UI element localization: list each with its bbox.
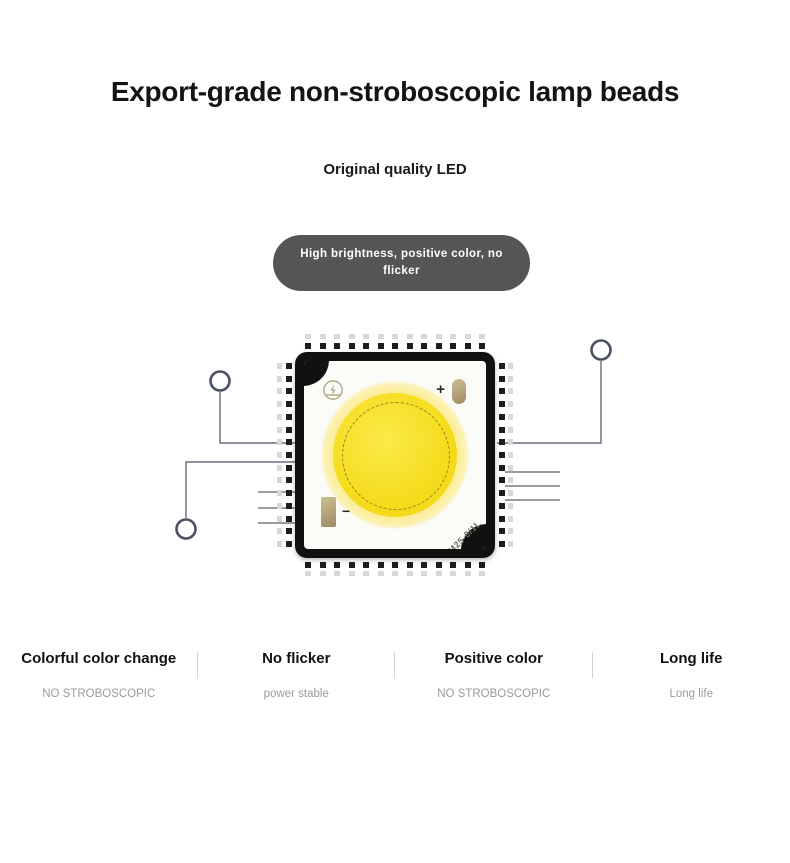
- chip-pad-top: [392, 343, 398, 349]
- chip-pad-top-shadow: [465, 334, 471, 339]
- chip-pad-left: [286, 363, 292, 369]
- chip-pad-bottom: [305, 562, 311, 568]
- chip-pad-left: [286, 490, 292, 496]
- chip-pad-top-shadow: [407, 334, 413, 339]
- chip-pad-bottom-shadow: [363, 571, 369, 576]
- led-chip-image: + − M25-0/1L: [262, 326, 528, 588]
- feature-subtitle: NO STROBOSCOPIC: [395, 688, 593, 700]
- chip-pad-left-shadow: [277, 452, 282, 458]
- chip-pad-right-shadow: [508, 452, 513, 458]
- chip-pad-right-shadow: [508, 439, 513, 445]
- chip-pad-top: [320, 343, 326, 349]
- page-subtitle: Original quality LED: [0, 161, 790, 178]
- chip-pad-bottom: [320, 562, 326, 568]
- chip-pad-right-shadow: [508, 541, 513, 547]
- chip-pad-top: [305, 343, 311, 349]
- chip-pad-left-shadow: [277, 388, 282, 394]
- chip-pad-top-shadow: [320, 334, 326, 339]
- chip-pad-left-shadow: [277, 465, 282, 471]
- chip-pad-left-shadow: [277, 363, 282, 369]
- chip-pad-right: [499, 452, 505, 458]
- chip-pad-bottom-shadow: [378, 571, 384, 576]
- chip-pad-top-shadow: [349, 334, 355, 339]
- feature-subtitle: Long life: [593, 688, 790, 700]
- chip-pad-right-shadow: [508, 414, 513, 420]
- chip-pad-right-shadow: [508, 363, 513, 369]
- phosphor-dashed-ring: [342, 402, 450, 510]
- chip-pad-left-shadow: [277, 414, 282, 420]
- chip-pad-right: [499, 516, 505, 522]
- feature-item: Colorful color change NO STROBOSCOPIC: [0, 650, 198, 700]
- anode-terminal: [452, 379, 466, 404]
- chip-pad-bottom-shadow: [421, 571, 427, 576]
- chip-pad-right-shadow: [508, 388, 513, 394]
- chip-pad-bottom-shadow: [465, 571, 471, 576]
- chip-pad-top-shadow: [450, 334, 456, 339]
- chip-pad-top: [479, 343, 485, 349]
- chip-pad-top: [465, 343, 471, 349]
- chip-pad-bottom-shadow: [349, 571, 355, 576]
- chip-pad-left: [286, 528, 292, 534]
- chip-pad-right-shadow: [508, 528, 513, 534]
- chip-pad-bottom-shadow: [436, 571, 442, 576]
- chip-pad-bottom: [392, 562, 398, 568]
- chip-pad-left-shadow: [277, 541, 282, 547]
- chip-pad-left-shadow: [277, 376, 282, 382]
- chip-pad-top: [436, 343, 442, 349]
- feature-title: No flicker: [198, 650, 396, 667]
- chip-pad-right-shadow: [508, 427, 513, 433]
- callout-dot-left-bottom[interactable]: [177, 520, 196, 539]
- chip-pad-right: [499, 503, 505, 509]
- chip-pad-right: [499, 401, 505, 407]
- chip-pad-left: [286, 503, 292, 509]
- chip-pad-top-shadow: [392, 334, 398, 339]
- chip-pad-bottom: [465, 562, 471, 568]
- chip-pad-top: [378, 343, 384, 349]
- chip-pad-bottom-shadow: [320, 571, 326, 576]
- chip-pad-right-shadow: [508, 376, 513, 382]
- chip-pad-right-shadow: [508, 490, 513, 496]
- chip-pad-bottom-shadow: [334, 571, 340, 576]
- chip-pad-right: [499, 427, 505, 433]
- chip-pad-left: [286, 541, 292, 547]
- chip-pad-left: [286, 439, 292, 445]
- feature-item: Long life Long life: [593, 650, 790, 700]
- chip-pad-bottom: [407, 562, 413, 568]
- feature-subtitle: power stable: [198, 688, 396, 700]
- chip-pad-top-shadow: [421, 334, 427, 339]
- chip-pad-bottom: [450, 562, 456, 568]
- callout-dot-left-top[interactable]: [211, 372, 230, 391]
- chip-pad-right-shadow: [508, 477, 513, 483]
- chip-pad-right-shadow: [508, 465, 513, 471]
- chip-substrate: + − M25-0/1L: [304, 361, 486, 549]
- anode-plus-sign: +: [436, 382, 445, 397]
- cathode-minus-sign: −: [342, 504, 350, 518]
- chip-pad-bottom-shadow: [479, 571, 485, 576]
- chip-pad-left-shadow: [277, 427, 282, 433]
- chip-pad-left: [286, 414, 292, 420]
- chip-pad-right-shadow: [508, 503, 513, 509]
- chip-pad-top-shadow: [334, 334, 340, 339]
- chip-pad-right: [499, 414, 505, 420]
- chip-pad-right-shadow: [508, 401, 513, 407]
- chip-pad-left: [286, 516, 292, 522]
- chip-pad-top: [334, 343, 340, 349]
- chip-pad-left: [286, 427, 292, 433]
- chip-pad-right: [499, 541, 505, 547]
- chip-pad-left: [286, 376, 292, 382]
- chip-pad-top-shadow: [363, 334, 369, 339]
- feature-title: Long life: [593, 650, 790, 667]
- chip-pad-bottom: [363, 562, 369, 568]
- feature-title: Positive color: [395, 650, 593, 667]
- feature-strip: Colorful color change NO STROBOSCOPIC No…: [0, 650, 790, 700]
- chip-pad-bottom-shadow: [392, 571, 398, 576]
- chip-pad-bottom-shadow: [450, 571, 456, 576]
- chip-pad-top: [421, 343, 427, 349]
- chip-pad-left-shadow: [277, 477, 282, 483]
- chip-pad-bottom-shadow: [407, 571, 413, 576]
- callout-dot-right-top[interactable]: [592, 341, 611, 360]
- chip-pad-right: [499, 439, 505, 445]
- chip-pad-bottom: [479, 562, 485, 568]
- chip-pad-bottom: [421, 562, 427, 568]
- chip-pad-top-shadow: [305, 334, 311, 339]
- chip-pad-bottom-shadow: [305, 571, 311, 576]
- chip-pad-right: [499, 465, 505, 471]
- chip-pad-top: [450, 343, 456, 349]
- feature-subtitle: NO STROBOSCOPIC: [0, 688, 198, 700]
- chip-pad-bottom: [436, 562, 442, 568]
- feature-title: Colorful color change: [0, 650, 198, 667]
- highlight-badge-label: High brightness, positive color, no flic…: [295, 246, 508, 279]
- chip-body: + − M25-0/1L: [295, 352, 495, 558]
- chip-pad-right: [499, 363, 505, 369]
- chip-pad-left: [286, 465, 292, 471]
- chip-pad-left-shadow: [277, 503, 282, 509]
- chip-pad-bottom: [349, 562, 355, 568]
- page-title: Export-grade non-stroboscopic lamp beads: [0, 76, 790, 108]
- chip-pad-bottom: [334, 562, 340, 568]
- chip-pad-left: [286, 477, 292, 483]
- chip-pad-right: [499, 477, 505, 483]
- highlight-badge: High brightness, positive color, no flic…: [273, 235, 530, 291]
- chip-pad-right: [499, 388, 505, 394]
- chip-pad-top-shadow: [479, 334, 485, 339]
- esd-warning-icon: [322, 379, 344, 401]
- feature-item: No flicker power stable: [198, 650, 396, 700]
- chip-pad-left-shadow: [277, 516, 282, 522]
- chip-pad-right-shadow: [508, 516, 513, 522]
- chip-pad-top: [407, 343, 413, 349]
- chip-pad-right: [499, 490, 505, 496]
- chip-pad-left-shadow: [277, 490, 282, 496]
- chip-pad-left-shadow: [277, 528, 282, 534]
- chip-pad-top-shadow: [378, 334, 384, 339]
- chip-pad-top: [363, 343, 369, 349]
- chip-pad-right: [499, 376, 505, 382]
- chip-pad-left: [286, 452, 292, 458]
- chip-pad-right: [499, 528, 505, 534]
- chip-pad-left-shadow: [277, 401, 282, 407]
- feature-item: Positive color NO STROBOSCOPIC: [395, 650, 593, 700]
- chip-pad-left-shadow: [277, 439, 282, 445]
- chip-pad-top: [349, 343, 355, 349]
- chip-pad-top-shadow: [436, 334, 442, 339]
- chip-pad-left: [286, 401, 292, 407]
- cathode-terminal: [321, 497, 336, 527]
- chip-pad-bottom: [378, 562, 384, 568]
- chip-pad-left: [286, 388, 292, 394]
